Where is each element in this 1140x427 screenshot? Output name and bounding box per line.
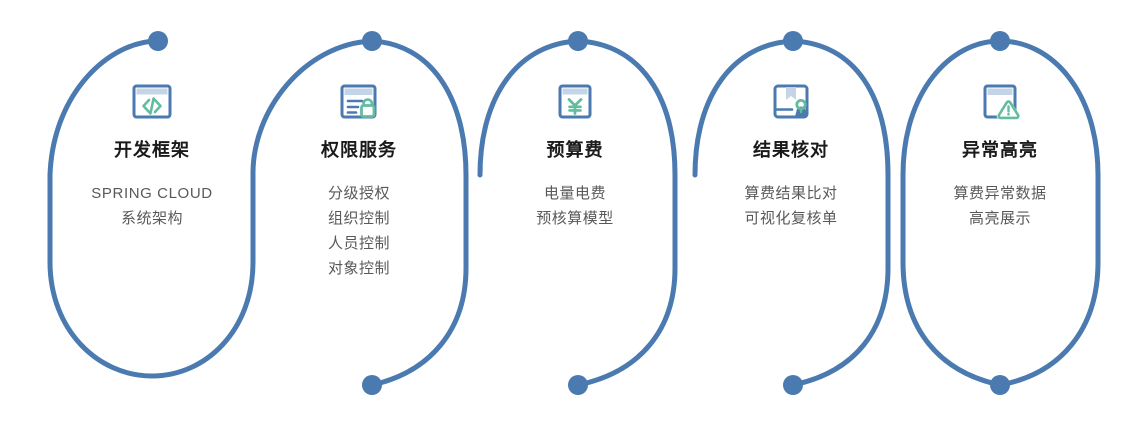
bottom-dot-4 — [990, 375, 1010, 395]
step-line: 算费结果比对 — [744, 181, 837, 206]
step-title: 异常高亮 — [962, 140, 1038, 162]
bottom-dot-2 — [568, 375, 588, 395]
top-dot-3 — [568, 31, 588, 51]
step-line: 组织控制 — [328, 206, 390, 231]
warning-card-icon — [978, 80, 1022, 124]
step-line: SPRING CLOUD — [91, 181, 212, 206]
step-column-5: 异常高亮 算费异常数据 高亮展示 — [900, 80, 1100, 231]
step-line: 系统架构 — [121, 206, 183, 231]
diagram-canvas: 开发框架 SPRING CLOUD 系统架构 权限服务 分级授权 组织控制 人员… — [0, 0, 1140, 427]
step-lines: 电量电费 预核算模型 — [536, 181, 614, 231]
step-column-3: 预算费 电量电费 预核算模型 — [475, 80, 675, 231]
step-column-2: 权限服务 分级授权 组织控制 人员控制 对象控制 — [259, 80, 459, 281]
document-lock-icon — [337, 80, 381, 124]
step-lines: 算费结果比对 可视化复核单 — [744, 181, 837, 231]
bottom-dot-1 — [362, 375, 382, 395]
step-lines: SPRING CLOUD 系统架构 — [91, 181, 212, 231]
step-column-4: 结果核对 算费结果比对 可视化复核单 — [691, 80, 891, 231]
step-line: 高亮展示 — [969, 206, 1031, 231]
top-dot-4 — [783, 31, 803, 51]
step-lines: 分级授权 组织控制 人员控制 对象控制 — [328, 181, 390, 281]
step-title: 预算费 — [547, 140, 604, 162]
yuan-card-icon — [553, 80, 597, 124]
bottom-dot-3 — [783, 375, 803, 395]
top-dot-1 — [148, 31, 168, 51]
top-dot-2 — [362, 31, 382, 51]
step-line: 算费异常数据 — [953, 181, 1046, 206]
step-lines: 算费异常数据 高亮展示 — [953, 181, 1046, 231]
step-title: 权限服务 — [321, 140, 397, 162]
step-title: 结果核对 — [753, 140, 829, 162]
step-line: 可视化复核单 — [744, 206, 837, 231]
step-column-1: 开发框架 SPRING CLOUD 系统架构 — [52, 80, 252, 231]
step-line: 电量电费 — [544, 181, 606, 206]
step-title: 开发框架 — [114, 140, 190, 162]
step-line: 分级授权 — [328, 181, 390, 206]
step-line: 对象控制 — [328, 256, 390, 281]
step-line: 人员控制 — [328, 231, 390, 256]
book-person-icon — [769, 80, 813, 124]
step-line: 预核算模型 — [536, 206, 614, 231]
code-window-icon — [130, 80, 174, 124]
top-dot-5 — [990, 31, 1010, 51]
